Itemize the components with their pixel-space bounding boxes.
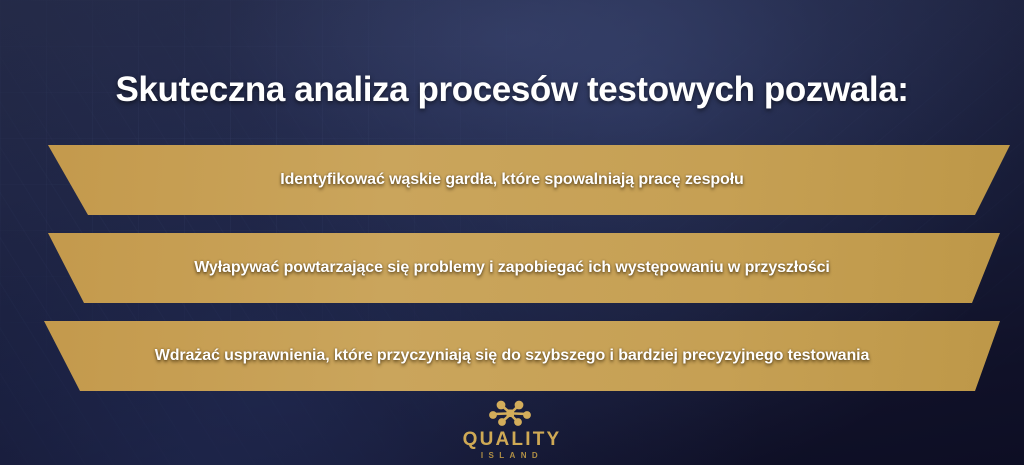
benefit-banner: Wyłapywać powtarzające się problemy i za…	[0, 233, 1024, 303]
logo-wordmark: QUALITY	[463, 430, 562, 449]
benefit-text: Wdrażać usprawnienia, które przyczyniają…	[115, 347, 910, 365]
benefit-banner: Identyfikować wąskie gardła, które spowa…	[0, 145, 1024, 215]
presentation-slide: function analyze(process) { const report…	[0, 0, 1024, 465]
logo-tagline: ISLAND	[481, 452, 543, 460]
slide-title: Skuteczna analiza procesów testowych poz…	[0, 70, 1024, 110]
molecule-nodes-icon	[489, 400, 535, 426]
benefit-banner: Wdrażać usprawnienia, które przyczyniają…	[0, 321, 1024, 391]
brand-logo: QUALITY ISLAND	[0, 400, 1024, 460]
benefits-list: Identyfikować wąskie gardła, które spowa…	[0, 145, 1024, 409]
benefit-text: Wyłapywać powtarzające się problemy i za…	[154, 259, 870, 277]
benefit-text: Identyfikować wąskie gardła, które spowa…	[240, 171, 784, 189]
